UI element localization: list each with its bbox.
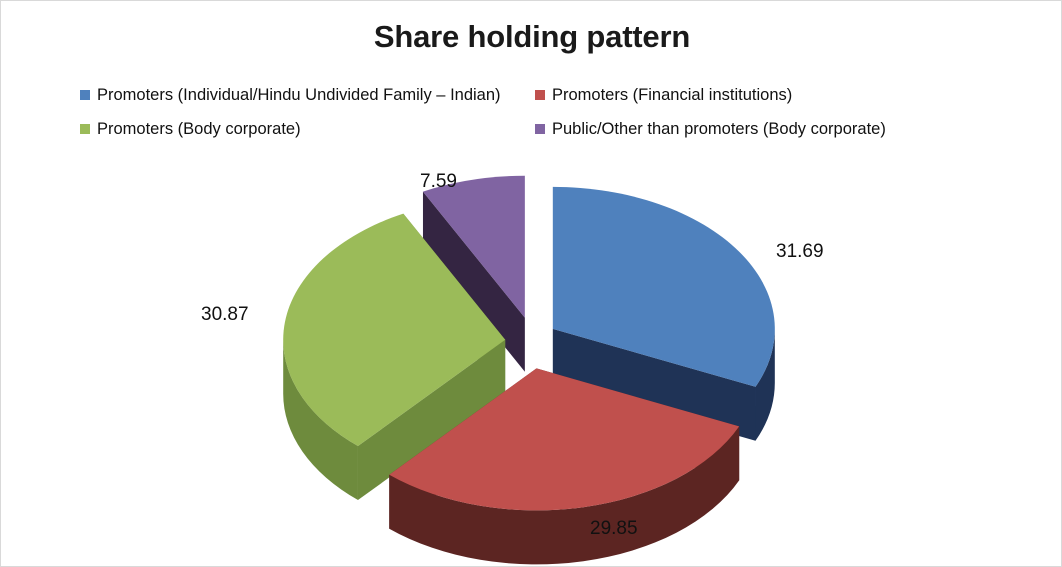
data-label-green: 30.87 [201, 304, 249, 326]
chart-legend: Promoters (Individual/Hindu Undivided Fa… [1, 85, 1062, 147]
data-label-purple: 7.59 [420, 171, 457, 193]
pie-chart-svg [1, 151, 1062, 566]
legend-item-public-other-than-promoters[interactable]: Public/Other than promoters (Body corpor… [535, 121, 886, 138]
legend-label-2: Promoters (Body corporate) [97, 121, 301, 138]
pie-plot-area [1, 151, 1062, 566]
legend-label-0: Promoters (Individual/Hindu Undivided Fa… [97, 87, 501, 104]
legend-swatch-purple-icon [535, 124, 545, 134]
legend-item-promoters-financial-institutions[interactable]: Promoters (Financial institutions) [535, 87, 792, 104]
legend-swatch-green-icon [80, 124, 90, 134]
chart-frame: Share holding pattern Promoters (Individ… [0, 0, 1062, 567]
legend-label-3: Public/Other than promoters (Body corpor… [552, 121, 886, 138]
data-label-blue: 31.69 [776, 241, 824, 263]
data-label-red: 29.85 [590, 518, 638, 540]
legend-label-1: Promoters (Financial institutions) [552, 87, 792, 104]
legend-swatch-blue-icon [80, 90, 90, 100]
legend-item-promoters-body-corporate[interactable]: Promoters (Body corporate) [80, 121, 301, 138]
legend-swatch-red-icon [535, 90, 545, 100]
chart-title: Share holding pattern [1, 19, 1062, 55]
legend-item-promoters-individual-huf[interactable]: Promoters (Individual/Hindu Undivided Fa… [80, 87, 501, 104]
